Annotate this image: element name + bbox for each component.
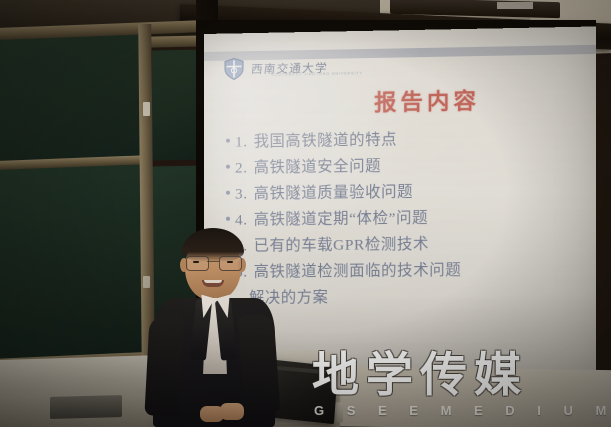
chalk-eraser-icon: [143, 102, 150, 116]
bullet-dot-icon: [226, 139, 230, 143]
list-item: 1. 我国高铁隧道的特点: [226, 124, 596, 152]
lecture-desk-right: [300, 366, 611, 427]
slide-title: 报告内容: [204, 81, 596, 120]
housing-label-tag: [497, 2, 533, 9]
list-item-number: 3.: [235, 185, 248, 203]
list-item-number: 2.: [235, 159, 248, 177]
list-item-number: 1.: [235, 133, 248, 151]
presenter-teeth: [204, 280, 222, 283]
list-item-label: 我国高铁隧道的特点: [254, 127, 397, 151]
list-item-label: 高铁隧道安全问题: [254, 154, 381, 178]
desk-object: [50, 395, 122, 419]
list-item: 2. 高铁隧道安全问题: [226, 151, 596, 178]
lecture-photo-scene: 西南交通大学 SOUTHWEST JIAOTONG UNIVERSITY 报告内…: [0, 0, 611, 427]
presenter-arm-right: [238, 313, 281, 415]
shield-crest-icon: [224, 57, 244, 80]
blackboard-panel-upper-left: [0, 31, 148, 165]
blackboard-panel-lower-left: [0, 163, 148, 361]
presenter: [145, 228, 285, 427]
list-item-label: 高铁隧道质量验收问题: [254, 179, 414, 203]
presenter-eye-right: [227, 261, 233, 263]
list-item: 3. 高铁隧道质量验收问题: [226, 177, 596, 204]
bullet-dot-icon: [226, 191, 230, 195]
presenter-arm-left: [144, 315, 183, 417]
list-item-label: 高铁隧道定期“体检”问题: [254, 205, 428, 229]
university-name-english: SOUTHWEST JIAOTONG UNIVERSITY: [271, 71, 363, 77]
eyeglass-bridge: [207, 261, 219, 262]
university-logo: 西南交通大学 SOUTHWEST JIAOTONG UNIVERSITY: [224, 56, 328, 81]
bullet-dot-icon: [226, 217, 230, 221]
eyeglass-lens-right: [219, 256, 242, 271]
presenter-eye-left: [193, 261, 199, 263]
eyeglass-lens-left: [186, 256, 209, 271]
list-item-number: 4.: [235, 211, 248, 229]
presenter-hand-right: [220, 403, 244, 420]
bullet-dot-icon: [226, 165, 230, 169]
list-item: 4. 高铁隧道定期“体检”问题: [226, 203, 596, 229]
